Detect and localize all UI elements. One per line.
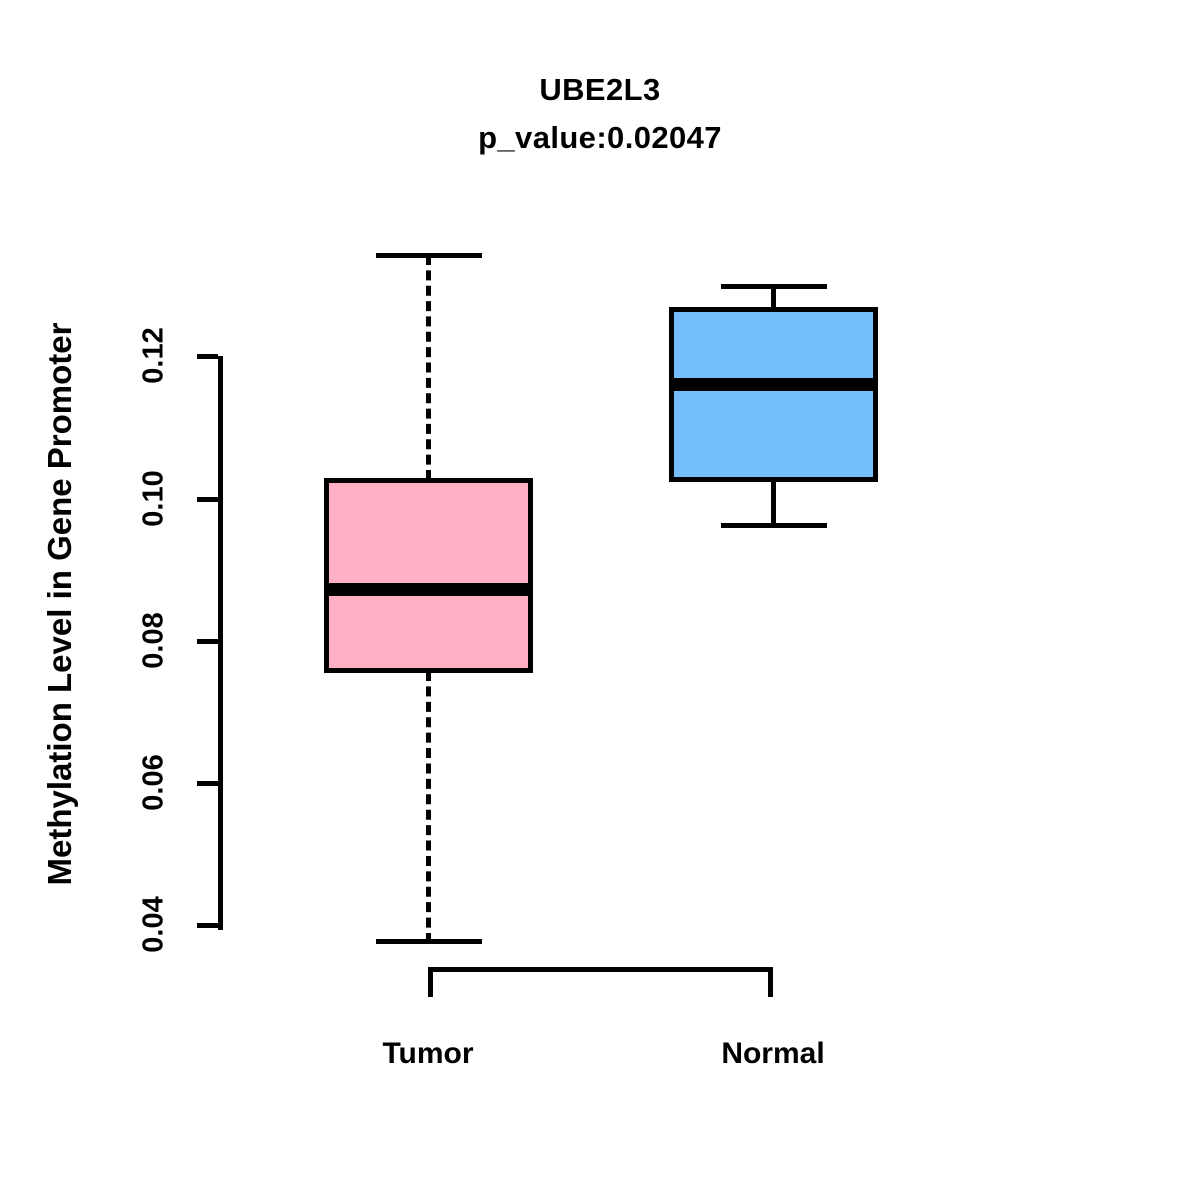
normal-lower-whisker [771, 480, 776, 525]
normal-box [669, 307, 878, 482]
y-tick-mark-4 [197, 354, 218, 359]
x-axis-line [428, 967, 773, 972]
tumor-lower-whisker [426, 671, 431, 943]
x-tick-mark-normal [768, 967, 773, 997]
y-tick-mark-2 [197, 639, 218, 644]
y-tick-label-4: 0.12 [138, 306, 171, 406]
y-tick-label-2: 0.08 [138, 591, 171, 691]
x-tick-mark-tumor [428, 967, 433, 997]
tumor-box [324, 478, 533, 673]
tumor-median-line [324, 583, 533, 596]
boxplot-figure: UBE2L3 p_value:0.02047 Methylation Level… [0, 0, 1200, 1200]
y-axis-line [218, 356, 223, 930]
y-tick-mark-1 [197, 781, 218, 786]
y-tick-label-0: 0.04 [138, 875, 171, 975]
y-tick-label-3: 0.10 [138, 449, 171, 549]
chart-title: UBE2L3 [0, 72, 1200, 108]
x-tick-label-normal: Normal [673, 1037, 873, 1071]
y-tick-mark-3 [197, 497, 218, 502]
chart-subtitle-pvalue: p_value:0.02047 [0, 120, 1200, 156]
y-tick-label-1: 0.06 [138, 733, 171, 833]
y-tick-mark-0 [197, 923, 218, 928]
x-tick-label-tumor: Tumor [328, 1037, 528, 1071]
normal-lower-whisker-cap [721, 523, 827, 528]
y-axis-title: Methylation Level in Gene Promoter [41, 189, 79, 1019]
tumor-lower-whisker-cap [376, 939, 482, 944]
tumor-upper-whisker [426, 255, 431, 480]
normal-median-line [669, 378, 878, 391]
